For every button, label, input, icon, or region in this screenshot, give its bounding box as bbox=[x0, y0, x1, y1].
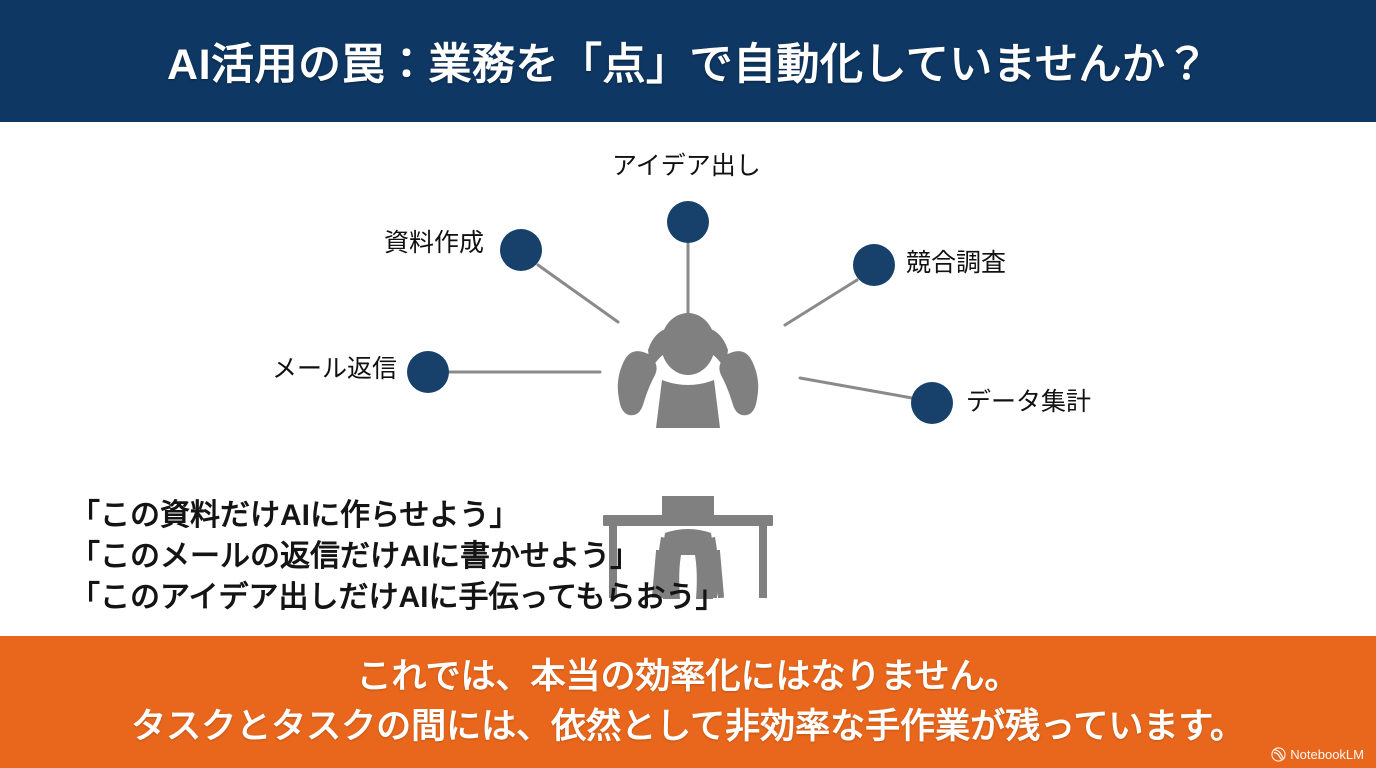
notebooklm-watermark: NotebookLM bbox=[1271, 747, 1364, 762]
notebooklm-spiral-icon bbox=[1271, 747, 1286, 762]
node-dot-doc[interactable] bbox=[500, 229, 542, 271]
node-label-data: データ集計 bbox=[966, 390, 1091, 415]
quote-block: 「この資料だけAIに作らせよう」 「このメールの返信だけAIに書かせよう」 「こ… bbox=[70, 495, 890, 618]
page-title: AI活用の罠：業務を「点」で自動化していませんか？ bbox=[0, 0, 1376, 122]
quote-line: 「このメールの返信だけAIに書かせよう」 bbox=[70, 536, 890, 577]
node-dot-competitor[interactable] bbox=[853, 244, 895, 286]
footer-line: タスクとタスクの間には、依然として非効率な手作業が残っています。 bbox=[131, 702, 1245, 752]
node-dot-data[interactable] bbox=[911, 382, 953, 424]
node-label-competitor: 競合調査 bbox=[906, 251, 1006, 276]
connector-competitor bbox=[785, 280, 857, 325]
node-label-mail: メール返信 bbox=[272, 357, 397, 382]
connector-doc bbox=[538, 265, 618, 322]
footer-message: これでは、本当の効率化にはなりません。 タスクとタスクの間には、依然として非効率… bbox=[0, 636, 1376, 768]
slide-canvas: AI活用の罠：業務を「点」で自動化していませんか？ bbox=[0, 0, 1376, 768]
connector-data bbox=[800, 378, 912, 398]
node-dot-mail[interactable] bbox=[407, 351, 449, 393]
node-label-doc: 資料作成 bbox=[384, 231, 484, 256]
node-dot-idea[interactable] bbox=[667, 201, 709, 243]
quote-line: 「この資料だけAIに作らせよう」 bbox=[70, 495, 890, 536]
quote-line: 「このアイデア出しだけAIに手伝ってもらおう」 bbox=[70, 577, 890, 618]
node-label-idea: アイデア出し bbox=[612, 154, 761, 179]
notebooklm-watermark-label: NotebookLM bbox=[1290, 747, 1364, 762]
footer-line: これでは、本当の効率化にはなりません。 bbox=[357, 652, 1020, 702]
